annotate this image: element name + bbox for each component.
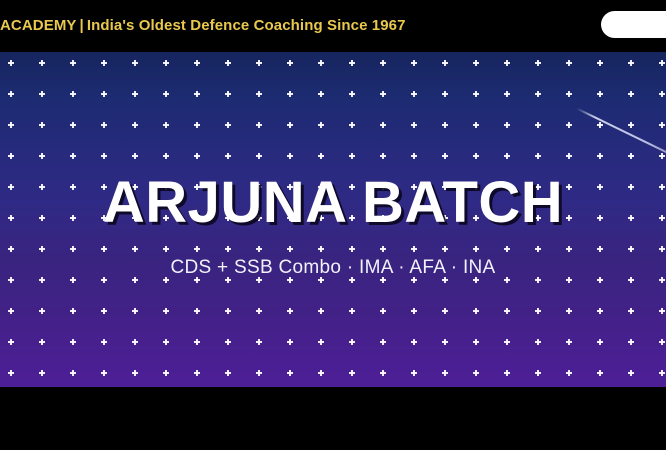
hero-subtitle: CDS + SSB Combo · IMA · AFA · INA bbox=[0, 257, 666, 279]
hero-content: ARJUNA BATCH CDS + SSB Combo · IMA · AFA… bbox=[0, 52, 666, 387]
top-bar-tagline-group: ACADEMY|India's Oldest Defence Coaching … bbox=[0, 17, 406, 34]
hero-section: ARJUNA BATCH CDS + SSB Combo · IMA · AFA… bbox=[0, 52, 666, 387]
banner-screen: ACADEMY|India's Oldest Defence Coaching … bbox=[0, 0, 666, 450]
top-bar: ACADEMY|India's Oldest Defence Coaching … bbox=[0, 0, 666, 52]
bottom-bar: xpert Faculty · NCA Academy bbox=[0, 387, 666, 450]
top-right-pill-button[interactable] bbox=[601, 11, 666, 38]
brand-name: ACADEMY bbox=[0, 17, 77, 34]
brand-separator: | bbox=[77, 17, 87, 34]
tagline-text: India's Oldest Defence Coaching Since 19… bbox=[87, 17, 406, 34]
hero-title: ARJUNA BATCH bbox=[0, 174, 666, 232]
